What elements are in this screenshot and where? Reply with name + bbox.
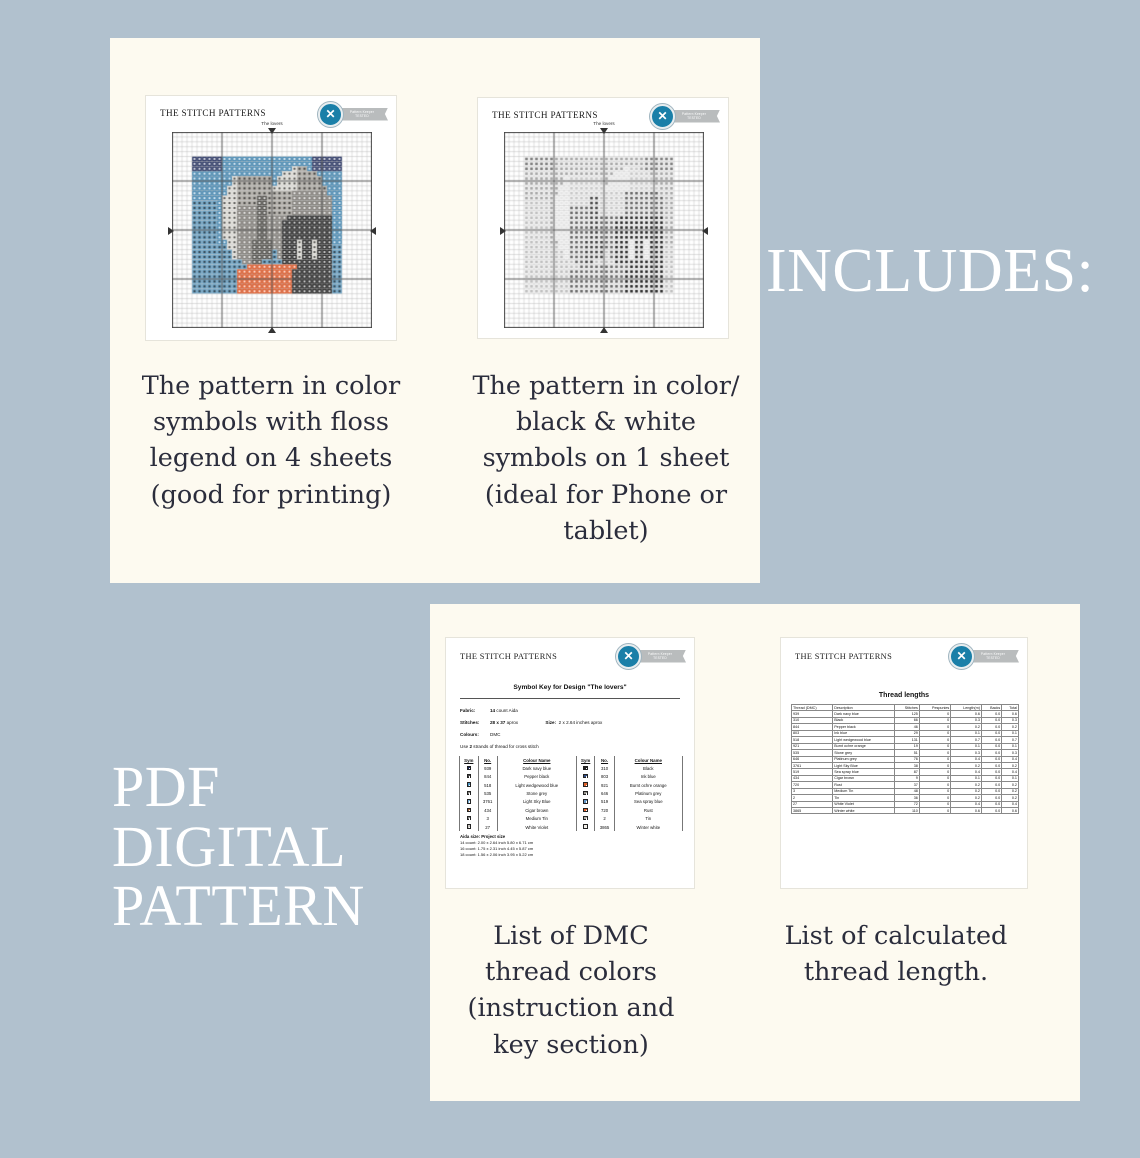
floss-legend-table: Sym No. Colour Name Sym No. Colour Name … [459,756,683,831]
legend-swatch-right [576,806,595,814]
center-marker-left-icon [168,227,174,235]
legend-name-right: Sea spray blue [614,798,682,806]
symbol-key-title: Symbol Key for Design "The lovers" [446,684,694,691]
legend-name-right: Platinum grey [614,789,682,797]
legend-swatch-right [576,781,595,789]
legend-name-right: Ink blue [614,773,682,781]
legend-no-left: 3 [478,815,497,823]
threads-cell-thread: 3865 [792,808,833,814]
legend-col-no-1: No. [478,756,497,764]
sheet-brand-title: THE STITCH PATTERNS [795,652,892,661]
caption-dmc-thread-colors: List of DMC thread colors (instruction a… [452,918,690,1063]
legend-swatch-left [460,806,479,814]
sheet-brand-title: THE STITCH PATTERNS [160,108,266,118]
legend-name-right: Black [614,764,682,772]
center-marker-top-icon [600,128,608,134]
legend-swatch-right [576,764,595,772]
legend-col-no-2: No. [595,756,614,764]
legend-name-left: Medium Tin [497,815,576,823]
color-chart-canvas [172,132,372,328]
legend-name-left: Stone grey [497,789,576,797]
listing-stage: INCLUDES: PDF DIGITAL PATTERN THE STITCH… [0,0,1140,1158]
legend-swatch-left [460,798,479,806]
legend-row: 434Cigar brown720Rust [460,806,683,814]
center-marker-top-icon [268,128,276,134]
sheet-preview-bw-chart[interactable]: THE STITCH PATTERNS ✕ Pattern Keeper TES… [477,97,729,339]
aida-size-row: 16 count: 1.75 x 2.31 inch 4.45 x 5.87 c… [460,846,533,852]
legend-row: 3761Light Sky Blue519Sea spray blue [460,798,683,806]
badge-ribbon: Pattern Keeper TESTED [336,108,388,121]
seal-x-glyph: ✕ [623,650,633,662]
sheet-preview-thread-lengths[interactable]: THE STITCH PATTERNS ✕ Pattern Keeper TES… [780,637,1028,889]
legend-row: 27White Violet3865Winter white [460,823,683,831]
legend-name-left: Light Sky Blue [497,798,576,806]
center-marker-left-icon [500,227,506,235]
spec-strands-note: Use 2 strands of thread for cross stitch [460,744,539,749]
legend-no-right: 519 [595,798,614,806]
tested-seal-icon: ✕ [318,102,343,127]
sheet-brand-title: THE STITCH PATTERNS [492,110,598,120]
thread-lengths-table: Thread (DMC) Description Stitches Pespun… [791,704,1019,814]
legend-swatch-right [576,815,595,823]
legend-swatch-left [460,815,479,823]
legend-no-left: 518 [478,781,497,789]
pattern-keeper-tested-badge: ✕ Pattern Keeper TESTED [616,645,686,667]
threads-cell-pespunies: 0 [919,808,950,814]
legend-row: 518Light wedgewood blue921Burnt ochre or… [460,781,683,789]
legend-swatch-left [460,764,479,772]
legend-header-row: Sym No. Colour Name Sym No. Colour Name [460,756,683,764]
legend-swatch-right [576,823,595,831]
legend-name-right: Tin [614,815,682,823]
threads-cell-description: Winter white [833,808,895,814]
chart-design-label: The lovers [172,121,372,126]
legend-no-right: 720 [595,806,614,814]
tested-seal-icon: ✕ [949,644,974,669]
center-marker-right-icon [702,227,708,235]
seal-x-glyph: ✕ [657,110,667,122]
legend-no-right: 3865 [595,823,614,831]
pdf-heading-line-3: PATTERN [112,876,365,936]
legend-swatch-left [460,789,479,797]
legend-no-left: 535 [478,789,497,797]
legend-no-right: 646 [595,789,614,797]
badge-ribbon-line-2: TESTED [687,116,701,120]
legend-name-left: Light wedgewood blue [497,781,576,789]
caption-color-symbols: The pattern in color symbols with floss … [140,368,402,513]
caption-calculated-thread-length: List of calculated thread length. [762,918,1030,990]
seal-x-glyph: ✕ [956,650,966,662]
bw-chart-canvas [504,132,704,328]
threads-cell-total: 0.6 [1002,808,1019,814]
legend-swatch-right [576,798,595,806]
legend-col-name-2: Colour Name [614,756,682,764]
legend-col-sym-2: Sym [576,756,595,764]
legend-swatch-left [460,781,479,789]
legend-no-left: 939 [478,764,497,772]
legend-row: 535Stone grey646Platinum grey [460,789,683,797]
legend-name-left: Dark navy blue [497,764,576,772]
pattern-keeper-tested-badge: ✕ Pattern Keeper TESTED [949,645,1019,667]
legend-row: 844Pepper black803Ink blue [460,773,683,781]
sheet-brand-title: THE STITCH PATTERNS [460,652,557,661]
center-marker-bottom-icon [268,327,276,333]
badge-ribbon-line-2: TESTED [355,114,369,118]
legend-no-right: 310 [595,764,614,772]
legend-no-left: 27 [478,823,497,831]
legend-no-right: 2 [595,815,614,823]
legend-name-right: Rust [614,806,682,814]
aida-title: Aida size: Project size [460,834,505,839]
caption-bw-symbols: The pattern in color/ black & white symb… [462,368,750,549]
color-chart-area: The lovers [172,132,372,328]
includes-heading: INCLUDES: [766,240,1094,302]
aida-size-row: 18 count: 1.56 x 2.06 inch 3.95 x 5.22 c… [460,852,533,858]
legend-name-right: Burnt ochre orange [614,781,682,789]
aida-size-block: Aida size: Project size 14 count: 2.00 x… [460,834,533,858]
legend-swatch-left [460,823,479,831]
tested-seal-icon: ✕ [650,104,675,129]
legend-no-left: 844 [478,773,497,781]
badge-ribbon: Pattern Keeper TESTED [634,650,686,663]
badge-ribbon-line-2: TESTED [986,656,1000,660]
threads-cell-stitches: 110 [894,808,919,814]
center-marker-bottom-icon [600,327,608,333]
legend-col-sym-1: Sym [460,756,479,764]
legend-no-right: 921 [595,781,614,789]
threads-cell-backs: 0.0 [981,808,1001,814]
legend-swatch-right [576,773,595,781]
threads-cell-length: 0.6 [951,808,982,814]
legend-name-left: Cigar brown [497,806,576,814]
legend-no-right: 803 [595,773,614,781]
badge-ribbon: Pattern Keeper TESTED [967,650,1019,663]
legend-name-left: White Violet [497,823,576,831]
threads-row: 3865Winter white11000.60.00.6 [792,808,1019,814]
legend-swatch-left [460,773,479,781]
tested-seal-icon: ✕ [616,644,641,669]
legend-no-left: 434 [478,806,497,814]
badge-ribbon-line-2: TESTED [653,656,667,660]
legend-no-left: 3761 [478,798,497,806]
sheet-preview-color-chart[interactable]: THE STITCH PATTERNS ✕ Pattern Keeper TES… [145,95,397,341]
thread-lengths-title: Thread lengths [781,692,1027,699]
legend-name-right: Winter white [614,823,682,831]
legend-col-name-1: Colour Name [497,756,576,764]
spec-colours: Colours:DMC [460,732,500,737]
legend-row: 939Dark navy blue310Black [460,764,683,772]
pdf-heading-line-1: PDF [112,757,365,817]
seal-x-glyph: ✕ [325,108,335,120]
bw-chart-area: The lovers [504,132,704,328]
legend-name-left: Pepper black [497,773,576,781]
pdf-heading-line-2: DIGITAL [112,817,365,877]
chart-design-label: The lovers [504,121,704,126]
sheet-preview-symbol-key[interactable]: THE STITCH PATTERNS ✕ Pattern Keeper TES… [445,637,695,889]
center-marker-right-icon [370,227,376,235]
legend-swatch-right [576,789,595,797]
spec-stitches: Stitches:28 x 37 aprox Size: 2 x 2.64 in… [460,720,602,725]
spec-fabric: Fabric:14 count Aida [460,708,518,713]
pdf-digital-pattern-heading: PDF DIGITAL PATTERN [112,757,365,936]
key-divider [460,698,680,699]
legend-row: 3Medium Tin2Tin [460,815,683,823]
